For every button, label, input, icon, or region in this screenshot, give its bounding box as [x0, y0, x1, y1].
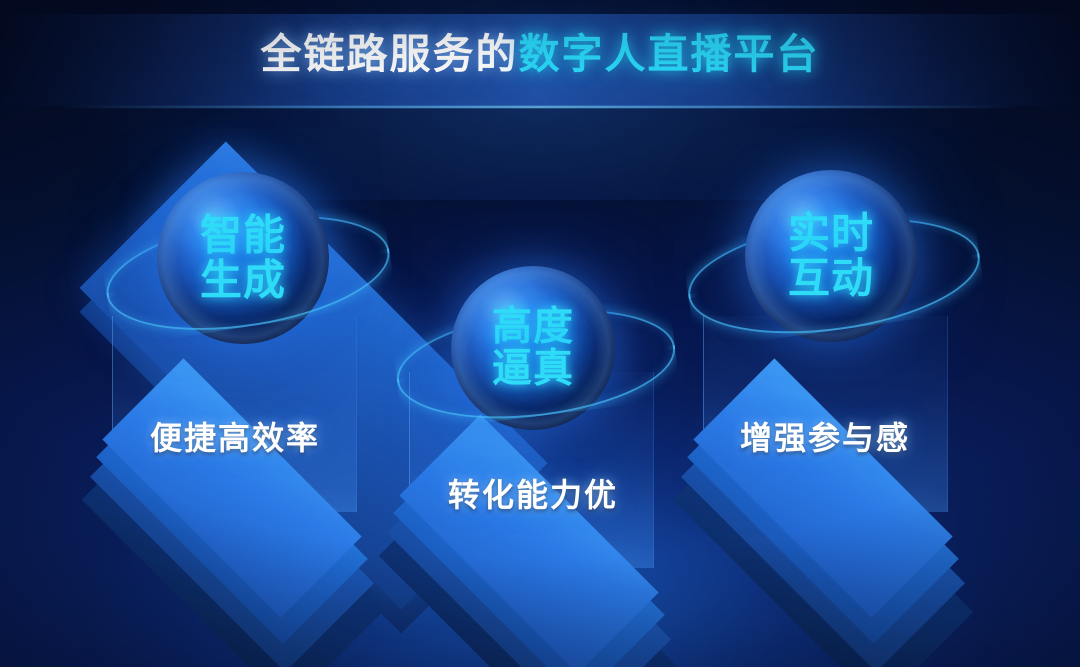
slide-canvas: 智能 生成 便捷高效率 实时 互动 增强参与感 高 [0, 0, 1080, 667]
page-title-prefix: 全链路服务的 [261, 31, 519, 77]
pillar-highly-realistic[interactable]: 高度 逼真 转化能力优 [0, 0, 1080, 667]
caption-center: 转化能力优 [408, 470, 658, 516]
orb-center[interactable]: 高度 逼真 [451, 266, 615, 430]
page-title: 全链路服务的数字人直播平台 [0, 34, 1080, 75]
page-title-accent: 数字人直播平台 [519, 31, 820, 77]
